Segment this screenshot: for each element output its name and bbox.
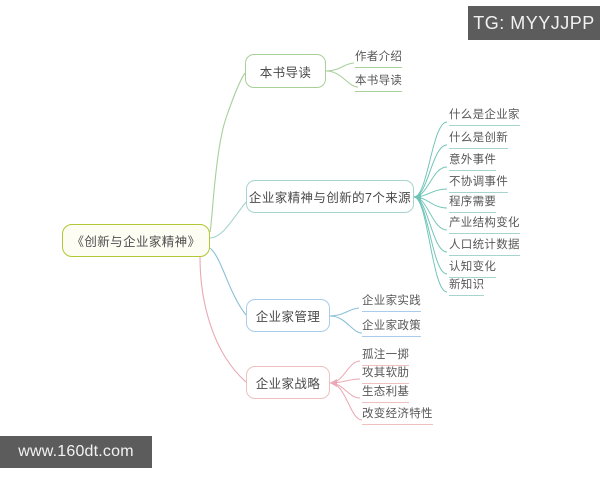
branch-node-book-guide[interactable]: 本书导读 <box>245 54 326 88</box>
branch-label: 企业家管理 <box>256 306 321 325</box>
telegram-watermark-text: TG: MYYJJPP <box>473 13 595 34</box>
branch-label: 企业家精神与创新的7个来源 <box>249 187 411 206</box>
leaf-item[interactable]: 改变经济特性 <box>362 407 433 425</box>
leaf-item[interactable]: 本书导读 <box>355 74 402 92</box>
branch-label: 本书导读 <box>260 62 312 81</box>
leaf-item[interactable]: 孤注一掷 <box>362 348 409 366</box>
leaf-item[interactable]: 产业结构变化 <box>449 216 520 234</box>
branch-node-entrepreneurial-management[interactable]: 企业家管理 <box>246 299 330 332</box>
leaf-item[interactable]: 不协调事件 <box>449 175 508 193</box>
mindmap-root-node[interactable]: 《创新与企业家精神》 <box>62 224 210 257</box>
root-node-label: 《创新与企业家精神》 <box>71 231 200 250</box>
branch-label: 企业家战略 <box>256 373 321 392</box>
leaf-item[interactable]: 攻其软肋 <box>362 366 409 384</box>
leaf-item[interactable]: 生态利基 <box>362 385 409 403</box>
leaf-item[interactable]: 什么是企业家 <box>449 108 520 126</box>
leaf-item[interactable]: 企业家政策 <box>362 319 421 337</box>
mindmap-canvas: 《创新与企业家精神》 本书导读 企业家精神与创新的7个来源 企业家管理 企业家战… <box>0 0 600 480</box>
leaf-item[interactable]: 什么是创新 <box>449 131 508 149</box>
leaf-item[interactable]: 作者介绍 <box>355 50 402 68</box>
leaf-item[interactable]: 人口统计数据 <box>449 238 520 256</box>
leaf-item[interactable]: 意外事件 <box>449 153 496 171</box>
telegram-watermark: TG: MYYJJPP <box>468 6 600 40</box>
leaf-item[interactable]: 认知变化 <box>449 260 496 278</box>
site-watermark: www.160dt.com <box>0 436 152 468</box>
leaf-item[interactable]: 企业家实践 <box>362 294 421 312</box>
leaf-item[interactable]: 新知识 <box>449 278 484 296</box>
branch-node-seven-sources[interactable]: 企业家精神与创新的7个来源 <box>246 180 414 213</box>
leaf-item[interactable]: 程序需要 <box>449 195 496 213</box>
site-watermark-text: www.160dt.com <box>18 443 134 461</box>
branch-node-entrepreneurial-strategy[interactable]: 企业家战略 <box>246 366 330 399</box>
